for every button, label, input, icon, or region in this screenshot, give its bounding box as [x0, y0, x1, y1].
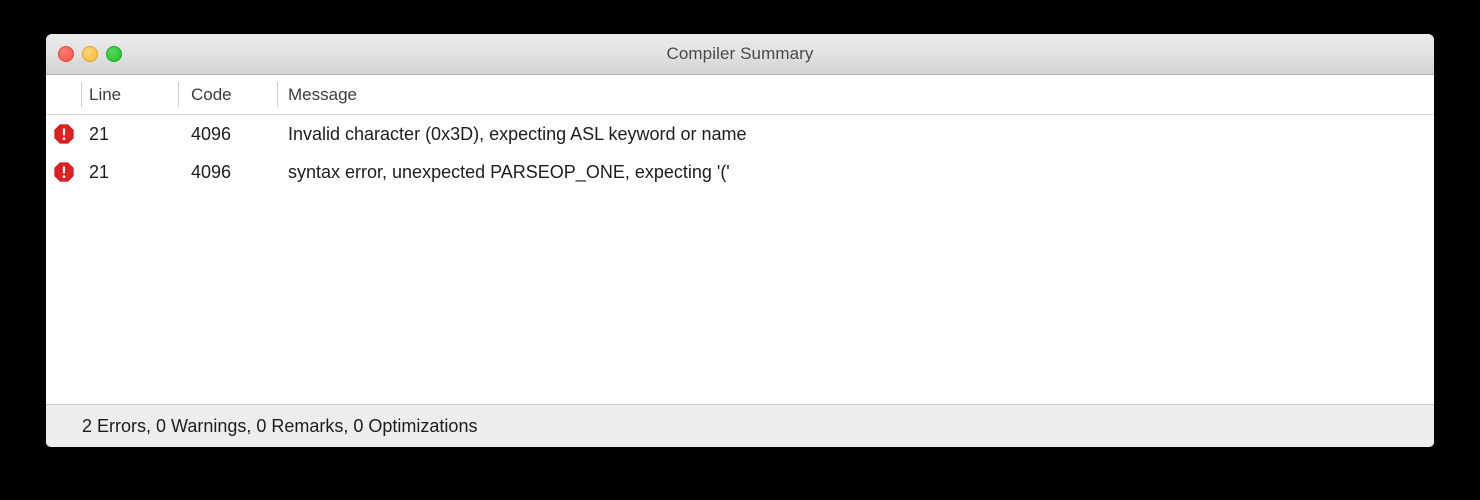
status-bar: 2 Errors, 0 Warnings, 0 Remarks, 0 Optim… — [46, 404, 1434, 447]
severity-cell — [46, 115, 81, 153]
window-title: Compiler Summary — [46, 44, 1434, 64]
desktop-background: Compiler Summary Line Code Message — [0, 0, 1480, 500]
compiler-summary-window: Compiler Summary Line Code Message — [46, 34, 1434, 447]
row-line-number: 21 — [89, 153, 186, 191]
row-line-number: 21 — [89, 115, 186, 153]
column-header-line[interactable]: Line — [89, 75, 186, 114]
zoom-button[interactable] — [106, 46, 122, 62]
column-header-message[interactable]: Message — [288, 75, 357, 114]
minimize-button[interactable] — [82, 46, 98, 62]
diagnostics-list[interactable]: 21 4096 Invalid character (0x3D), expect… — [46, 115, 1434, 404]
table-header-row: Line Code Message — [46, 75, 1434, 115]
status-summary-text: 2 Errors, 0 Warnings, 0 Remarks, 0 Optim… — [82, 416, 477, 437]
column-header-code[interactable]: Code — [191, 75, 288, 114]
row-code: 4096 — [191, 153, 288, 191]
row-message: Invalid character (0x3D), expecting ASL … — [288, 115, 747, 153]
table-row[interactable]: 21 4096 Invalid character (0x3D), expect… — [46, 115, 1434, 153]
window-controls — [58, 34, 122, 74]
window-titlebar[interactable]: Compiler Summary — [46, 34, 1434, 75]
error-octagon-icon — [54, 162, 74, 182]
row-message: syntax error, unexpected PARSEOP_ONE, ex… — [288, 153, 730, 191]
severity-cell — [46, 153, 81, 191]
row-code: 4096 — [191, 115, 288, 153]
error-octagon-icon — [54, 124, 74, 144]
close-button[interactable] — [58, 46, 74, 62]
table-row[interactable]: 21 4096 syntax error, unexpected PARSEOP… — [46, 153, 1434, 191]
column-divider — [81, 82, 82, 107]
